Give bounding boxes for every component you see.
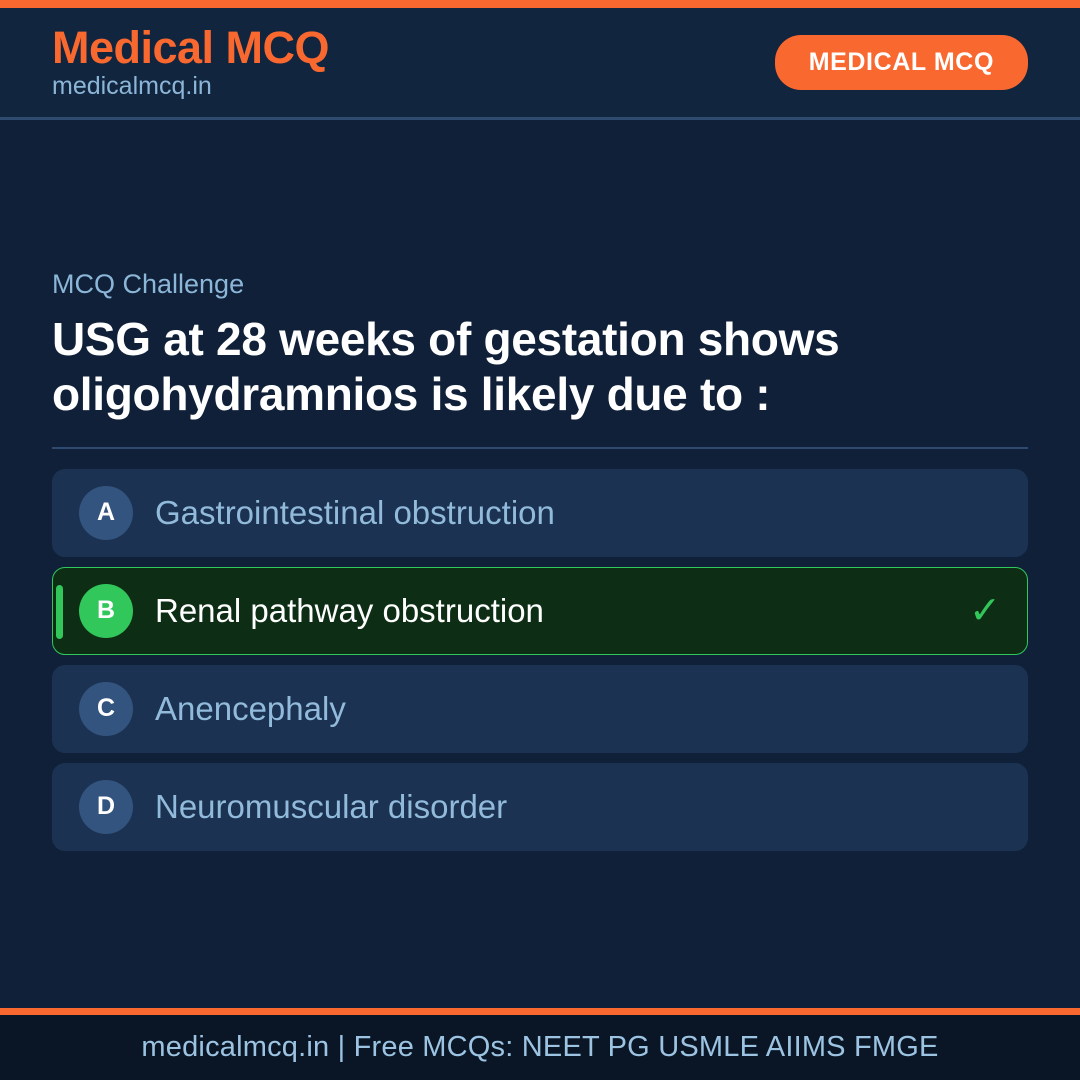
body: MCQ Challenge USG at 28 weeks of gestati…	[0, 120, 1080, 1008]
top-spacer	[52, 120, 1028, 268]
footer-accent-bar	[0, 1008, 1080, 1015]
option-letter-badge: A	[79, 486, 133, 540]
check-icon: ✓	[969, 592, 1001, 630]
options-list: A Gastrointestinal obstruction ✓ B Renal…	[52, 469, 1028, 851]
option-letter-badge: B	[79, 584, 133, 638]
header-badge[interactable]: MEDICAL MCQ	[775, 35, 1028, 90]
option-letter-badge: D	[79, 780, 133, 834]
brand-block: Medical MCQ medicalmcq.in	[52, 24, 329, 101]
eyebrow-label: MCQ Challenge	[52, 268, 1028, 300]
option-a[interactable]: A Gastrointestinal obstruction ✓	[52, 469, 1028, 557]
bottom-spacer	[52, 851, 1028, 1008]
question-divider	[52, 447, 1028, 449]
top-accent-bar	[0, 0, 1080, 8]
option-d[interactable]: D Neuromuscular disorder ✓	[52, 763, 1028, 851]
option-letter-badge: C	[79, 682, 133, 736]
option-c[interactable]: C Anencephaly ✓	[52, 665, 1028, 753]
option-b[interactable]: B Renal pathway obstruction ✓	[52, 567, 1028, 655]
footer-text: medicalmcq.in | Free MCQs: NEET PG USMLE…	[141, 1031, 938, 1064]
option-label: Renal pathway obstruction	[155, 591, 957, 631]
footer: medicalmcq.in | Free MCQs: NEET PG USMLE…	[0, 1015, 1080, 1080]
header: Medical MCQ medicalmcq.in MEDICAL MCQ	[0, 8, 1080, 120]
mcq-card: Medical MCQ medicalmcq.in MEDICAL MCQ MC…	[0, 0, 1080, 1080]
option-label: Gastrointestinal obstruction	[155, 493, 1001, 533]
option-label: Neuromuscular disorder	[155, 787, 1001, 827]
brand-title: Medical MCQ	[52, 24, 329, 71]
correct-accent-bar	[56, 585, 63, 639]
brand-subtitle: medicalmcq.in	[52, 73, 329, 101]
question-text: USG at 28 weeks of gestation shows oligo…	[52, 312, 987, 421]
option-label: Anencephaly	[155, 689, 1001, 729]
